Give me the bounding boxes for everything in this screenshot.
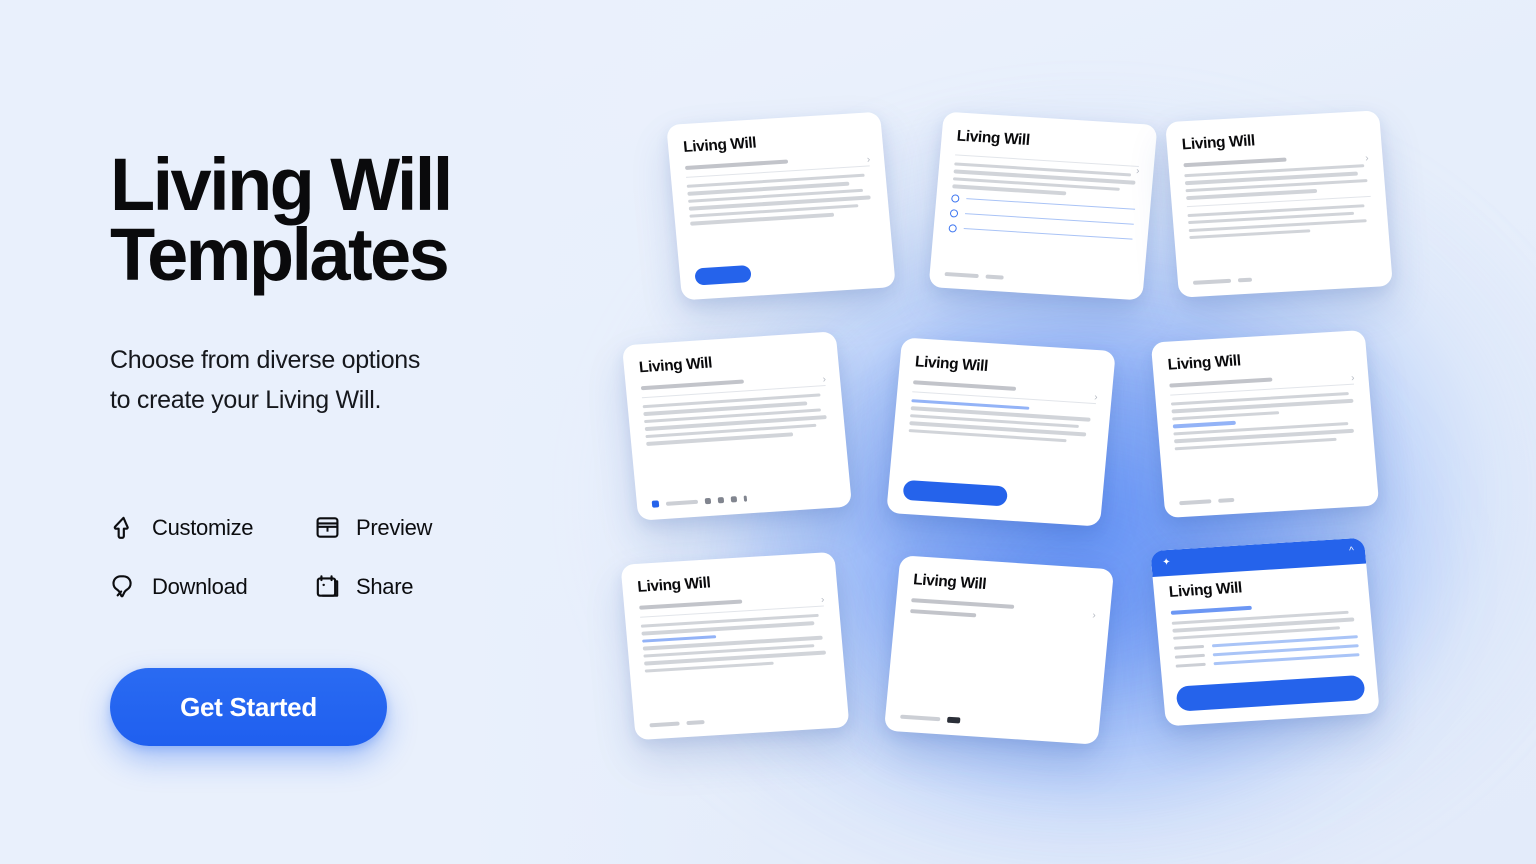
feature-label-download: Download [152, 574, 247, 600]
chevron-right-icon: › [822, 374, 826, 385]
hero-panel: Living Will Templates Choose from divers… [110, 150, 630, 746]
badge-icon [652, 500, 660, 507]
chevron-right-icon: › [1351, 373, 1355, 384]
template-card-body [1172, 610, 1357, 640]
star-action-icon[interactable] [731, 496, 738, 502]
chevron-right-icon: › [1094, 392, 1098, 403]
get-started-button[interactable]: Get Started [110, 668, 387, 746]
template-card-subheading [685, 159, 788, 169]
template-card-primary-button[interactable] [1176, 675, 1366, 712]
pin-drop-icon [110, 573, 137, 600]
template-card-subheading [1183, 158, 1286, 168]
collapse-chevron-icon[interactable]: ^ [1349, 546, 1355, 556]
template-card-header-bar: ✦ ^ [1150, 538, 1366, 577]
template-card-body [643, 393, 830, 446]
page-title: Living Will Templates [110, 150, 630, 289]
template-card-title: Living Will [1167, 346, 1352, 375]
template-card-footer [900, 714, 1084, 732]
template-card-title: Living Will [638, 347, 823, 377]
template-card-title: Living Will [914, 353, 1099, 383]
template-card-body [687, 173, 874, 225]
template-card[interactable]: Living Will › [884, 555, 1114, 744]
feature-label-share: Share [356, 574, 413, 600]
form-line [907, 648, 1081, 660]
chevron-right-icon: › [1365, 153, 1369, 164]
feature-item-download[interactable]: Download [110, 573, 314, 600]
cursor-arrow-icon [110, 514, 137, 541]
template-card-title: Living Will [1181, 126, 1366, 154]
template-card[interactable]: Living Will › [929, 112, 1158, 301]
feature-item-share[interactable]: Share [314, 573, 518, 600]
template-card-action-button[interactable] [902, 480, 1008, 507]
template-card-link[interactable] [1173, 421, 1236, 428]
page-title-line-2: Templates [110, 220, 630, 290]
circle-icon [948, 224, 957, 232]
feature-label-customize: Customize [152, 515, 253, 541]
template-card-form [1174, 635, 1360, 667]
template-card-body [952, 162, 1138, 199]
template-card-field-rows [907, 620, 1093, 660]
template-card-subheading [641, 379, 744, 390]
template-card-title: Living Will [1168, 572, 1353, 601]
template-card-footer [1193, 271, 1377, 285]
template-card-title: Living Will [683, 128, 868, 157]
template-card-body [641, 613, 829, 672]
template-card-subheading [911, 598, 1014, 609]
chevron-right-icon: › [1136, 166, 1140, 177]
template-card-body-secondary [1187, 203, 1373, 239]
feature-list: Customize Preview Download [110, 498, 630, 616]
template-card-footer [649, 712, 833, 727]
feature-item-customize[interactable]: Customize [110, 514, 314, 541]
template-card-field-rows [948, 194, 1135, 243]
template-card[interactable]: Living Will › [1165, 110, 1393, 297]
template-card-body [1171, 392, 1359, 451]
template-card[interactable]: Living Will › [620, 552, 849, 740]
template-card-title: Living Will [956, 127, 1141, 156]
template-card-body [1184, 164, 1370, 200]
template-card-action-button[interactable] [694, 265, 751, 285]
template-card-highlighted[interactable]: ✦ ^ Living Will [1150, 538, 1380, 727]
template-card[interactable]: Living Will › [886, 337, 1116, 526]
chevron-right-icon: › [866, 154, 870, 165]
chevron-right-icon: › [1092, 610, 1096, 621]
template-card-body [909, 399, 1096, 444]
calendar-icon [314, 573, 341, 600]
template-card-subheading [913, 380, 1016, 391]
page-subtitle-line-2: to create your Living Will. [110, 381, 510, 421]
template-card[interactable]: Living Will › [666, 112, 896, 301]
template-card-title: Living Will [912, 571, 1097, 601]
share-action-icon[interactable] [705, 497, 712, 503]
template-card-footer [945, 272, 1129, 288]
template-card-subheading-secondary [910, 609, 976, 617]
template-gallery: Living Will › Living Will › Living Will [612, 96, 1462, 796]
page-title-line-1: Living Will [110, 150, 630, 220]
field-row [948, 224, 1132, 244]
page-subtitle-line-1: Choose from diverse options [110, 341, 510, 381]
form-line [908, 634, 1090, 646]
chevron-right-icon: › [821, 594, 825, 605]
feature-item-preview[interactable]: Preview [314, 514, 518, 541]
circle-icon [951, 194, 960, 202]
more-action-icon[interactable] [744, 495, 748, 501]
template-card-subheading [1171, 606, 1252, 615]
template-card-footer [652, 489, 836, 508]
file-format-badge [947, 717, 961, 724]
template-card[interactable]: Living Will › [622, 331, 852, 520]
form-line [909, 620, 1078, 631]
template-card-subheading [639, 600, 742, 610]
template-card-title: Living Will [637, 568, 822, 597]
form-line [907, 641, 1039, 650]
browser-window-icon [314, 514, 341, 541]
copy-action-icon[interactable] [718, 497, 725, 503]
circle-icon [950, 209, 959, 217]
template-card-footer [1179, 490, 1363, 505]
template-card[interactable]: Living Will › [1151, 330, 1379, 518]
feature-label-preview: Preview [356, 515, 432, 541]
template-card-link[interactable] [642, 635, 716, 643]
form-line [909, 627, 1087, 639]
page-subtitle: Choose from diverse options to create yo… [110, 341, 510, 420]
template-card-subheading [1169, 378, 1272, 388]
sparkle-icon: ✦ [1162, 558, 1171, 568]
